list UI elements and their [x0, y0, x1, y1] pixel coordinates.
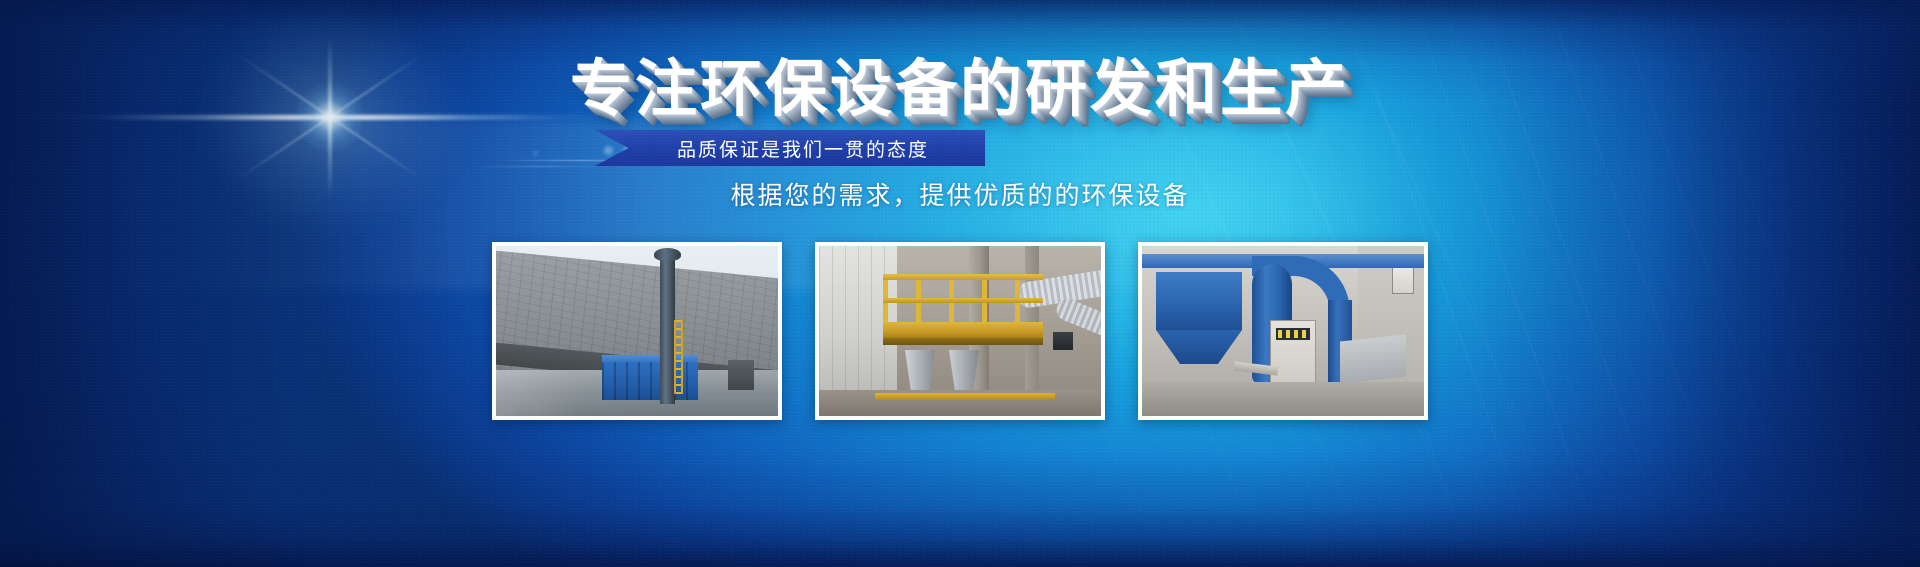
- exhaust-stack: [660, 254, 675, 404]
- photo-blue-cyclone[interactable]: [1138, 242, 1428, 420]
- banner-content: 专注环保设备的研发和生产 品质保证是我们一贯的态度 根据您的需求，提供优质的的环…: [0, 0, 1920, 567]
- photo-strip: [0, 242, 1920, 420]
- photo-yellow-platform[interactable]: [815, 242, 1105, 420]
- page-title: 专注环保设备的研发和生产: [0, 55, 1920, 125]
- filter-housing: [1156, 272, 1242, 330]
- photo-warehouse-stack[interactable]: [492, 242, 782, 420]
- page-subtitle: 根据您的需求，提供优质的的环保设备: [0, 176, 1920, 212]
- photo-blue-cyclone-scene: [1142, 246, 1424, 416]
- railing-mid-bar: [883, 298, 1043, 303]
- photo-warehouse-stack-scene: [496, 246, 778, 416]
- factory-door: [728, 360, 754, 390]
- exhaust-stack-cap: [654, 248, 681, 261]
- storage-tank: [1340, 335, 1406, 384]
- photo-yellow-platform-scene: [819, 246, 1101, 416]
- dust-collector-ribs: [602, 362, 698, 400]
- access-ladder: [674, 320, 683, 394]
- floor-guard-rail: [875, 393, 1055, 400]
- control-box: [1053, 332, 1073, 350]
- ribbon-label: 品质保证是我们一贯的态度: [595, 130, 985, 166]
- railing-top-bar: [883, 274, 1043, 280]
- hero-banner: 专注环保设备的研发和生产 品质保证是我们一贯的态度 根据您的需求，提供优质的的环…: [0, 0, 1920, 567]
- control-panel-indicators: [1278, 330, 1308, 338]
- steel-platform: [883, 322, 1043, 338]
- steel-platform-edge: [883, 338, 1043, 345]
- workshop-floor: [1142, 382, 1424, 416]
